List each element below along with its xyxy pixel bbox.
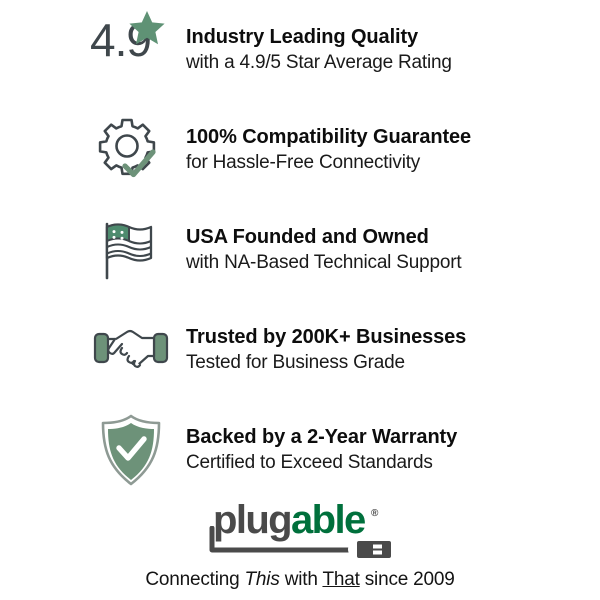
gear-icon-cell xyxy=(90,109,172,191)
handshake-icon xyxy=(93,320,169,380)
compatibility-text-cell: 100% Compatibility Guarantee for Hassle-… xyxy=(172,125,471,176)
feature-subtitle: Certified to Exceed Standards xyxy=(186,450,457,476)
feature-row-trusted: Trusted by 200K+ Businesses Tested for B… xyxy=(0,300,600,400)
rating-text-cell: Industry Leading Quality with a 4.9/5 St… xyxy=(172,25,452,76)
feature-list: 4.9 Industry Leading Quality with a 4.9/… xyxy=(0,0,600,500)
feature-subtitle: with NA-Based Technical Support xyxy=(186,250,461,276)
feature-row-warranty: Backed by a 2-Year Warranty Certified to… xyxy=(0,400,600,500)
trusted-text-cell: Trusted by 200K+ Businesses Tested for B… xyxy=(172,325,466,376)
flag-icon-cell xyxy=(90,209,172,291)
feature-title: 100% Compatibility Guarantee xyxy=(186,125,471,150)
tagline-this: This xyxy=(245,569,280,590)
tagline-lead: Connecting xyxy=(145,569,244,590)
usa-flag-icon xyxy=(95,214,167,286)
feature-title: USA Founded and Owned xyxy=(186,225,461,250)
usa-text-cell: USA Founded and Owned with NA-Based Tech… xyxy=(172,225,461,276)
tagline-trail: since 2009 xyxy=(360,569,455,590)
feature-row-compatibility: 100% Compatibility Guarantee for Hassle-… xyxy=(0,100,600,200)
handshake-icon-cell xyxy=(90,309,172,391)
tagline-middle: with xyxy=(280,569,323,590)
usb-cable-icon xyxy=(207,526,407,560)
shield-check-icon xyxy=(98,413,164,487)
shield-icon-cell xyxy=(90,409,172,491)
feature-subtitle: with a 4.9/5 Star Average Rating xyxy=(186,50,452,76)
feature-subtitle: for Hassle-Free Connectivity xyxy=(186,150,471,176)
star-icon xyxy=(126,9,168,51)
feature-row-usa: USA Founded and Owned with NA-Based Tech… xyxy=(0,200,600,300)
plugable-logo[interactable]: plugable ® xyxy=(195,500,405,560)
feature-row-rating: 4.9 Industry Leading Quality with a 4.9/… xyxy=(0,0,600,100)
feature-title: Industry Leading Quality xyxy=(186,25,452,50)
tagline: Connecting This with That since 2009 xyxy=(0,569,600,591)
feature-title: Backed by a 2-Year Warranty xyxy=(186,425,457,450)
warranty-text-cell: Backed by a 2-Year Warranty Certified to… xyxy=(172,425,457,476)
gear-check-icon xyxy=(95,114,167,186)
registered-mark: ® xyxy=(371,508,378,519)
footer: plugable ® Connecting This with That sin… xyxy=(0,500,600,591)
rating-icon-cell: 4.9 xyxy=(90,9,172,91)
tagline-that: That xyxy=(322,569,359,590)
feature-title: Trusted by 200K+ Businesses xyxy=(186,325,466,350)
rating-star-icon: 4.9 xyxy=(90,9,172,91)
feature-subtitle: Tested for Business Grade xyxy=(186,350,466,376)
